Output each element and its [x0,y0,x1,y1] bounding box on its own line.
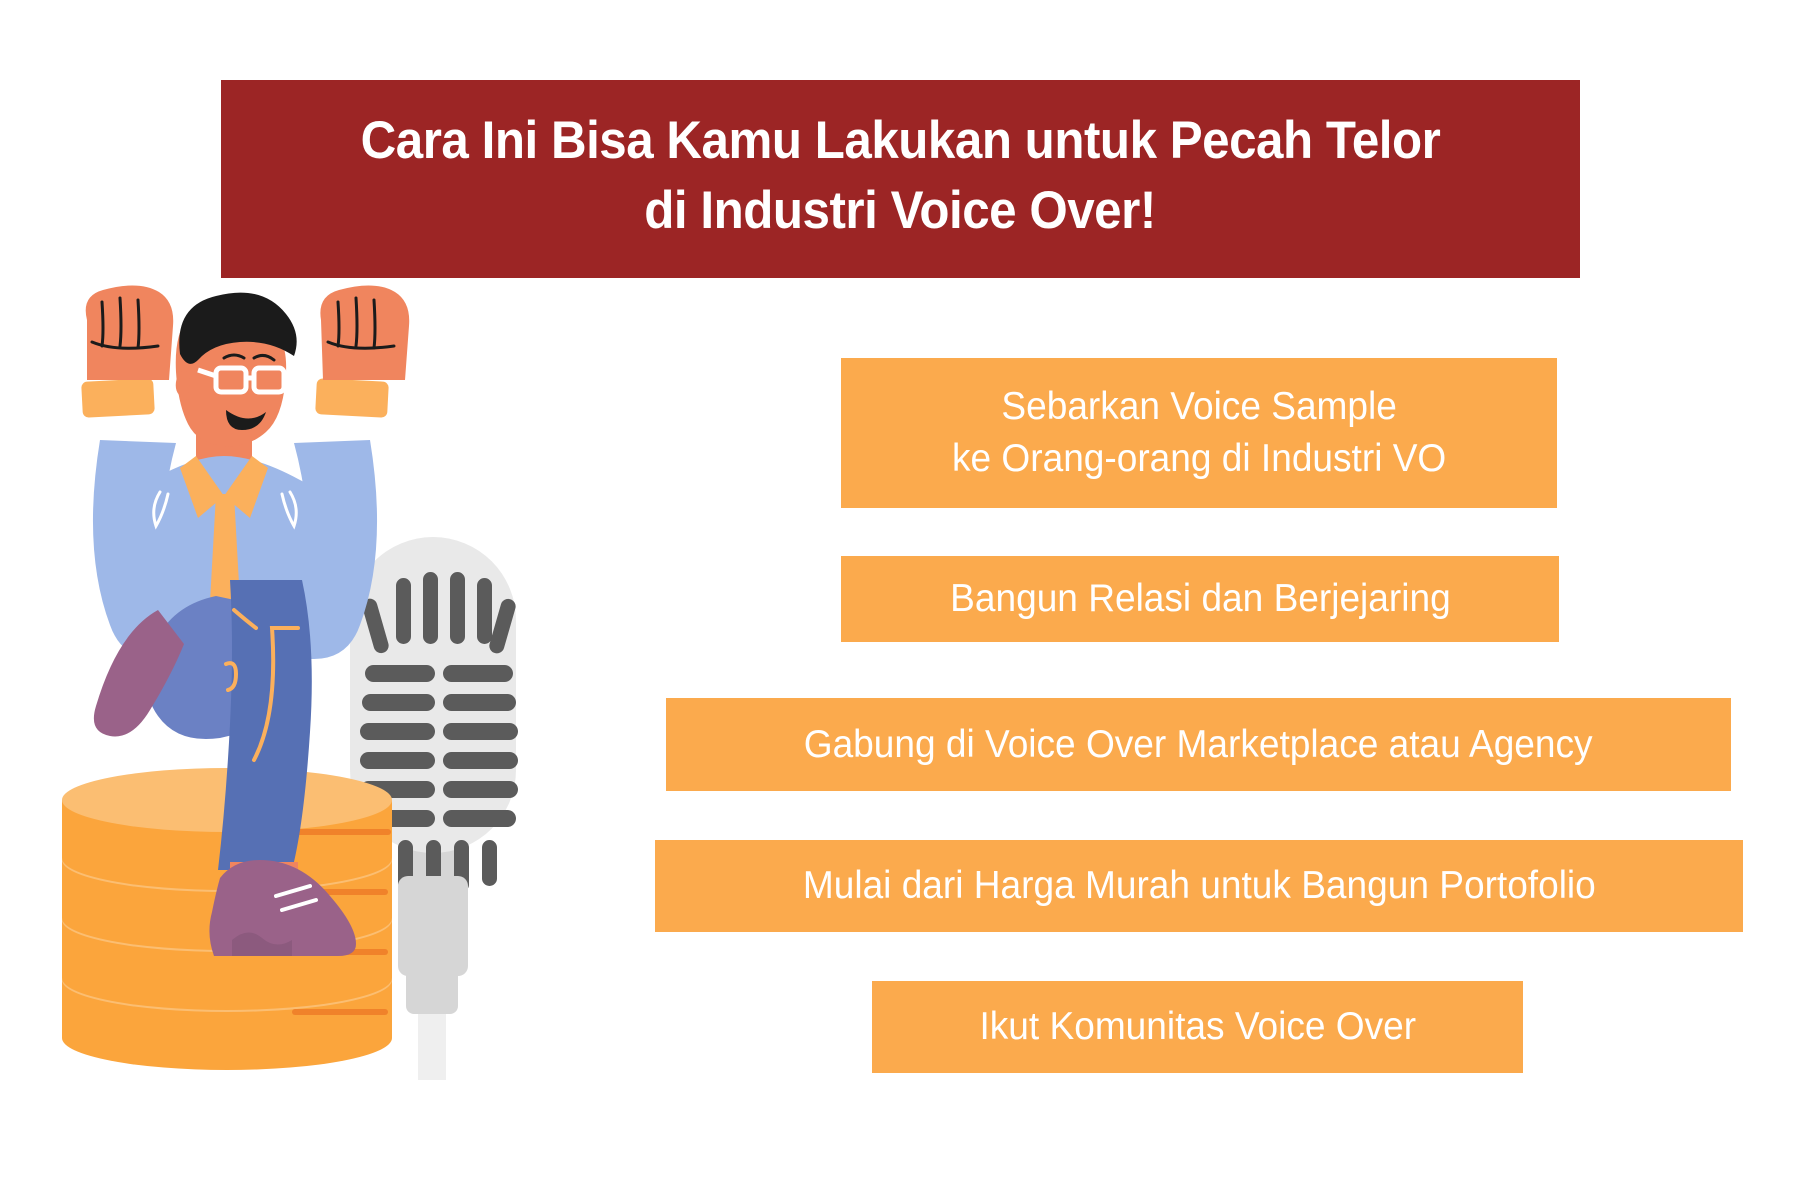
step-box-5[interactable]: Ikut Komunitas Voice Over [872,981,1523,1073]
title-banner: Cara Ini Bisa Kamu Lakukan untuk Pecah T… [221,80,1580,278]
step-box-2[interactable]: Bangun Relasi dan Berjejaring [841,556,1559,642]
step-1-line-2: ke Orang-orang di Industri VO [952,433,1446,485]
hero-illustration [40,280,570,1080]
step-4-line-1: Mulai dari Harga Murah untuk Bangun Port… [803,860,1596,912]
step-1-line-1: Sebarkan Voice Sample [1001,381,1396,433]
title-line-2: di Industri Voice Over! [645,176,1157,246]
step-3-line-1: Gabung di Voice Over Marketplace atau Ag… [804,719,1593,771]
infographic-canvas: Cara Ini Bisa Kamu Lakukan untuk Pecah T… [0,0,1800,1200]
step-5-line-1: Ikut Komunitas Voice Over [979,1001,1416,1053]
title-line-1: Cara Ini Bisa Kamu Lakukan untuk Pecah T… [361,106,1441,176]
step-box-1[interactable]: Sebarkan Voice Sample ke Orang-orang di … [841,358,1557,508]
step-box-4[interactable]: Mulai dari Harga Murah untuk Bangun Port… [655,840,1743,932]
step-2-line-1: Bangun Relasi dan Berjejaring [950,573,1451,625]
step-box-3[interactable]: Gabung di Voice Over Marketplace atau Ag… [666,698,1731,791]
